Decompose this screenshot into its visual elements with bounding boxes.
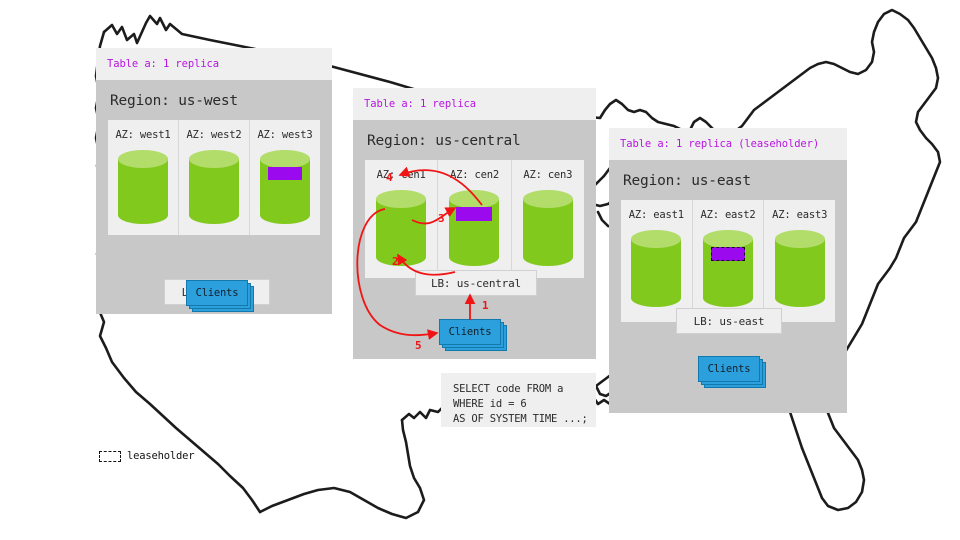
lb-us-east[interactable]: LB: us-east xyxy=(676,308,782,334)
cylinder-west1[interactable] xyxy=(118,150,168,224)
replica-west3[interactable] xyxy=(268,167,302,180)
az-cell-west3[interactable]: AZ: west3 xyxy=(250,120,320,235)
replica-cen2[interactable] xyxy=(456,207,492,221)
az-cell-east3[interactable]: AZ: east3 xyxy=(764,200,835,322)
cylinder-west3[interactable] xyxy=(260,150,310,224)
az-label-cen3: AZ: cen3 xyxy=(512,169,584,181)
az-label-east2: AZ: east2 xyxy=(693,209,764,221)
region-panel-us-east: Table a: 1 replica (leaseholder) Region:… xyxy=(609,128,847,413)
clients-label-us-east: Clients xyxy=(698,356,760,382)
az-cell-west2[interactable]: AZ: west2 xyxy=(179,120,250,235)
az-row-us-east: AZ: east1 AZ: east2 AZ: east3 xyxy=(621,200,835,322)
az-cell-cen1[interactable]: AZ: cen1 xyxy=(365,160,438,278)
az-cell-east1[interactable]: AZ: east1 xyxy=(621,200,693,322)
region-panel-us-west: Table a: 1 replica Region: us-west AZ: w… xyxy=(96,48,332,314)
dashed-rect-icon xyxy=(99,451,121,462)
az-row-us-central: AZ: cen1 AZ: cen2 AZ: cen3 xyxy=(365,160,584,278)
cylinder-east1[interactable] xyxy=(631,230,681,307)
cylinder-cen3[interactable] xyxy=(523,190,573,266)
lb-us-central[interactable]: LB: us-central xyxy=(415,270,537,296)
cylinder-cen1[interactable] xyxy=(376,190,426,266)
region-title-us-central: Region: us-central xyxy=(353,120,596,160)
az-label-east1: AZ: east1 xyxy=(621,209,692,221)
panel-titlebar-us-east: Table a: 1 replica (leaseholder) xyxy=(609,128,847,160)
lb-label-us-central: LB: us-central xyxy=(431,277,521,290)
az-label-cen1: AZ: cen1 xyxy=(365,169,437,181)
region-title-us-west: Region: us-west xyxy=(96,80,332,120)
lb-label-us-east: LB: us-east xyxy=(694,315,765,328)
cylinder-east3[interactable] xyxy=(775,230,825,307)
clients-us-west[interactable]: Clients xyxy=(186,280,248,306)
az-row-us-west: AZ: west1 AZ: west2 AZ: west3 xyxy=(108,120,320,235)
cylinder-east2[interactable] xyxy=(703,230,753,307)
sql-query-box: SELECT code FROM a WHERE id = 6 AS OF SY… xyxy=(441,373,596,427)
cylinder-west2[interactable] xyxy=(189,150,239,224)
region-panel-us-central: Table a: 1 replica Region: us-central AZ… xyxy=(353,88,596,359)
az-label-cen2: AZ: cen2 xyxy=(438,169,510,181)
clients-label-us-central: Clients xyxy=(439,319,501,345)
cylinder-cen2[interactable] xyxy=(449,190,499,266)
legend: leaseholder xyxy=(99,450,194,462)
az-cell-cen2[interactable]: AZ: cen2 xyxy=(438,160,511,278)
panel-titlebar-us-west: Table a: 1 replica xyxy=(96,48,332,80)
panel-titlebar-us-central: Table a: 1 replica xyxy=(353,88,596,120)
az-label-west3: AZ: west3 xyxy=(250,129,320,141)
replica-leaseholder-east2[interactable] xyxy=(711,247,745,261)
clients-label-us-west: Clients xyxy=(186,280,248,306)
az-cell-west1[interactable]: AZ: west1 xyxy=(108,120,179,235)
clients-us-east[interactable]: Clients xyxy=(698,356,760,382)
clients-us-central[interactable]: Clients xyxy=(439,319,501,345)
diagram-canvas: Table a: 1 replica Region: us-west AZ: w… xyxy=(0,0,960,540)
az-label-east3: AZ: east3 xyxy=(764,209,835,221)
region-title-us-east: Region: us-east xyxy=(609,160,847,200)
az-label-west1: AZ: west1 xyxy=(108,129,178,141)
az-label-west2: AZ: west2 xyxy=(179,129,249,141)
legend-label: leaseholder xyxy=(127,450,194,462)
az-cell-east2[interactable]: AZ: east2 xyxy=(693,200,765,322)
az-cell-cen3[interactable]: AZ: cen3 xyxy=(512,160,584,278)
